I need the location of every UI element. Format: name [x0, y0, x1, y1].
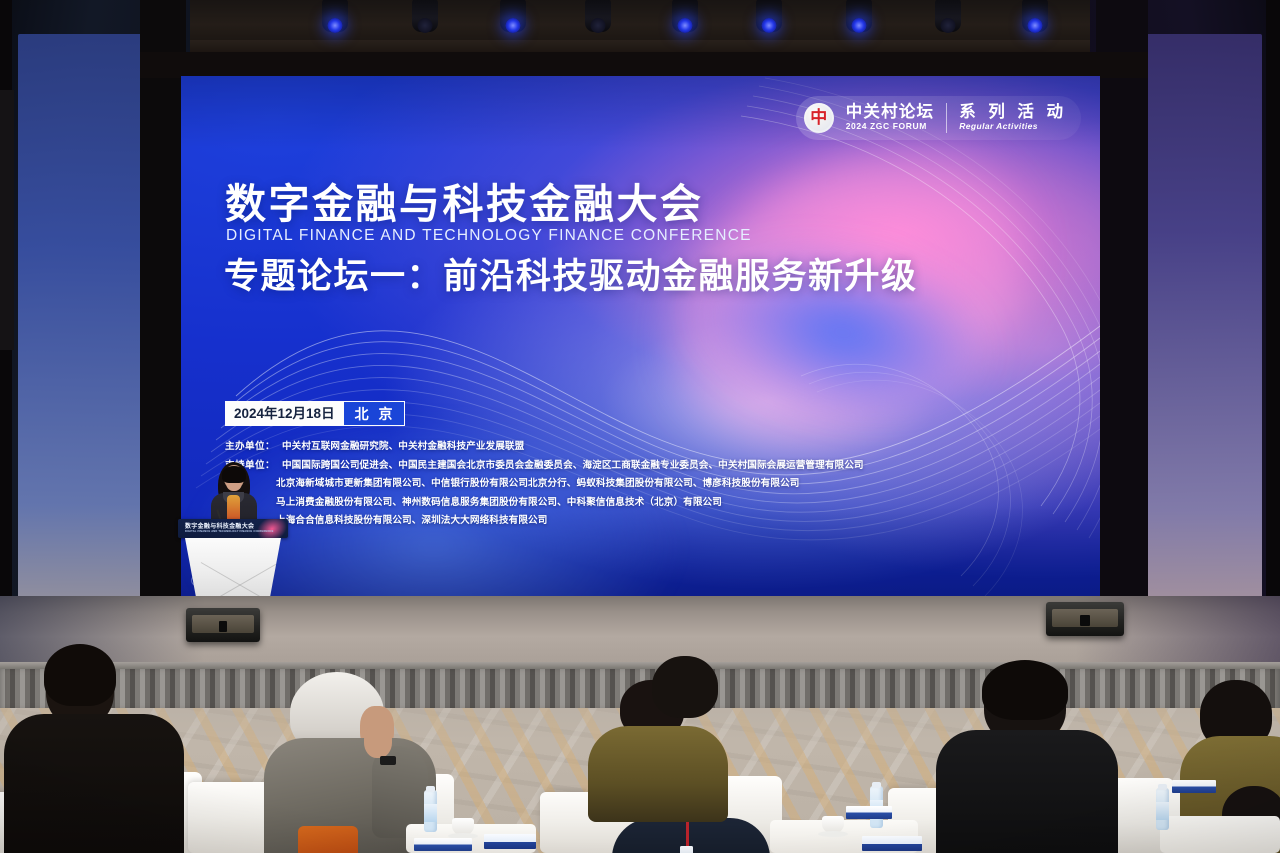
organizer-value-support: 中国国际跨国公司促进会、中国民主建国会北京市委员会金融委员会、海淀区工商联金融专… [282, 460, 864, 471]
torso [4, 714, 184, 853]
podium-body [185, 538, 281, 600]
zgc-series-en: Regular Activities [959, 121, 1067, 132]
logo-divider [946, 103, 947, 133]
organizer-line: 上海合合信息科技股份有限公司、深圳法大大网络科技有限公司 [225, 512, 864, 531]
name-card-1 [414, 838, 472, 851]
conference-title-zh: 数字金融与科技金融大会 [225, 184, 704, 225]
water-bottle-1 [424, 790, 437, 832]
name-card-5 [1172, 780, 1216, 793]
event-date: 2024年12月18日 [225, 401, 344, 426]
torso [936, 730, 1118, 853]
bottle-label [1156, 802, 1169, 820]
audience-member-5 [932, 664, 1132, 830]
wall-column-right [1266, 0, 1280, 700]
organizer-value-host: 中关村互联网金融研究院、中关村金融科技产业发展联盟 [282, 441, 524, 452]
bottle-cap [1158, 784, 1167, 790]
organizer-line: 支持单位：中国国际跨国公司促进会、中国民主建国会北京市委员会金融委员会、海淀区工… [225, 457, 864, 476]
stage-light-icon [935, 0, 961, 32]
monitor-port [1080, 615, 1089, 627]
podium: 数字金融与科技金融大会 DIGITAL FINANCE AND TECHNOLO… [178, 519, 288, 605]
stage-monitor-right [1046, 602, 1124, 636]
scarf [298, 826, 358, 853]
podium-banner-en: DIGITAL FINANCE AND TECHNOLOGY FINANCE C… [185, 531, 274, 534]
tea-cup-1 [452, 818, 474, 835]
bottle-cap [872, 782, 881, 788]
hair [982, 660, 1068, 720]
zgc-en-name: 2024 ZGC FORUM [846, 121, 935, 132]
organizer-value-3: 北京海新域城市更新集团有限公司、中信银行股份有限公司北京分行、蚂蚁科技集团股份有… [276, 478, 799, 489]
organizer-line: 北京海新域城市更新集团有限公司、中信银行股份有限公司北京分行、蚂蚁科技集团股份有… [225, 475, 864, 494]
conference-title-en: DIGITAL FINANCE AND TECHNOLOGY FINANCE C… [226, 228, 752, 244]
organizer-label-host: 主办单位： [225, 441, 275, 452]
head [652, 656, 718, 718]
organizer-list: 主办单位：中关村互联网金融研究院、中关村金融科技产业发展联盟 支持单位：中国国际… [225, 438, 864, 531]
led-screen: 中 中关村论坛 2024 ZGC FORUM 系 列 活 动 Regular A… [181, 76, 1100, 600]
bottle-cap [426, 786, 435, 792]
zgc-series-cn: 系 列 活 动 [959, 104, 1067, 121]
monitor-port [219, 621, 228, 633]
organizer-value-5: 上海合合信息科技股份有限公司、深圳法大大网络科技有限公司 [276, 515, 547, 526]
water-bottle-3 [1156, 788, 1169, 830]
torso [588, 726, 728, 822]
date-location-badge: 2024年12月18日 北 京 [225, 401, 405, 426]
stage-light-icon [500, 0, 526, 32]
name-card-4 [862, 836, 922, 851]
zgc-emblem-icon: 中 [804, 103, 834, 133]
organizer-line: 主办单位：中关村互联网金融研究院、中关村金融科技产业发展联盟 [225, 438, 864, 457]
podium-banner: 数字金融与科技金融大会 DIGITAL FINANCE AND TECHNOLO… [178, 519, 288, 538]
organizer-value-4: 马上消费金融股份有限公司、神州数码信息服务集团股份有限公司、中科聚信信息技术（北… [276, 497, 722, 508]
stage-light-icon [756, 0, 782, 32]
forum-subtitle: 专题论坛一：前沿科技驱动金融服务新升级 [224, 259, 918, 294]
bottle-label [424, 804, 437, 822]
podium-banner-text: 数字金融与科技金融大会 DIGITAL FINANCE AND TECHNOLO… [185, 524, 274, 533]
zgc-cn-name: 中关村论坛 [846, 104, 935, 121]
event-city: 北 京 [344, 401, 406, 426]
stage-light-icon [672, 0, 698, 32]
hand [364, 724, 392, 758]
wall-speaker-left [0, 90, 14, 350]
stage-monitor-left [186, 608, 260, 642]
zgc-emblem-letter: 中 [810, 110, 827, 127]
stage-light-icon [585, 0, 611, 32]
lanyard [686, 822, 689, 848]
conference-hall-scene: 中 中关村论坛 2024 ZGC FORUM 系 列 活 动 Regular A… [0, 0, 1280, 853]
badge [680, 846, 693, 853]
audience-member-1 [18, 648, 178, 853]
organizer-line: 马上消费金融股份有限公司、神州数码信息服务集团股份有限公司、中科聚信信息技术（北… [225, 494, 864, 513]
name-card-3 [846, 806, 892, 819]
stage-light-icon [846, 0, 872, 32]
screen-bezel-top [140, 52, 1148, 78]
side-table-right [1160, 816, 1280, 853]
stage-light-icon [412, 0, 438, 32]
hair [44, 644, 116, 706]
screen-bezel-right [1096, 0, 1148, 620]
stage-light-icon [1022, 0, 1048, 32]
name-card-2 [484, 834, 536, 849]
watch [380, 756, 396, 765]
audience-member-8 [652, 656, 722, 720]
tea-cup-2 [822, 816, 844, 833]
presenter-fringe [222, 466, 246, 483]
zgc-forum-logo: 中 中关村论坛 2024 ZGC FORUM 系 列 活 动 Regular A… [796, 96, 1081, 140]
stage-light-icon [322, 0, 348, 32]
saucer [818, 831, 848, 837]
